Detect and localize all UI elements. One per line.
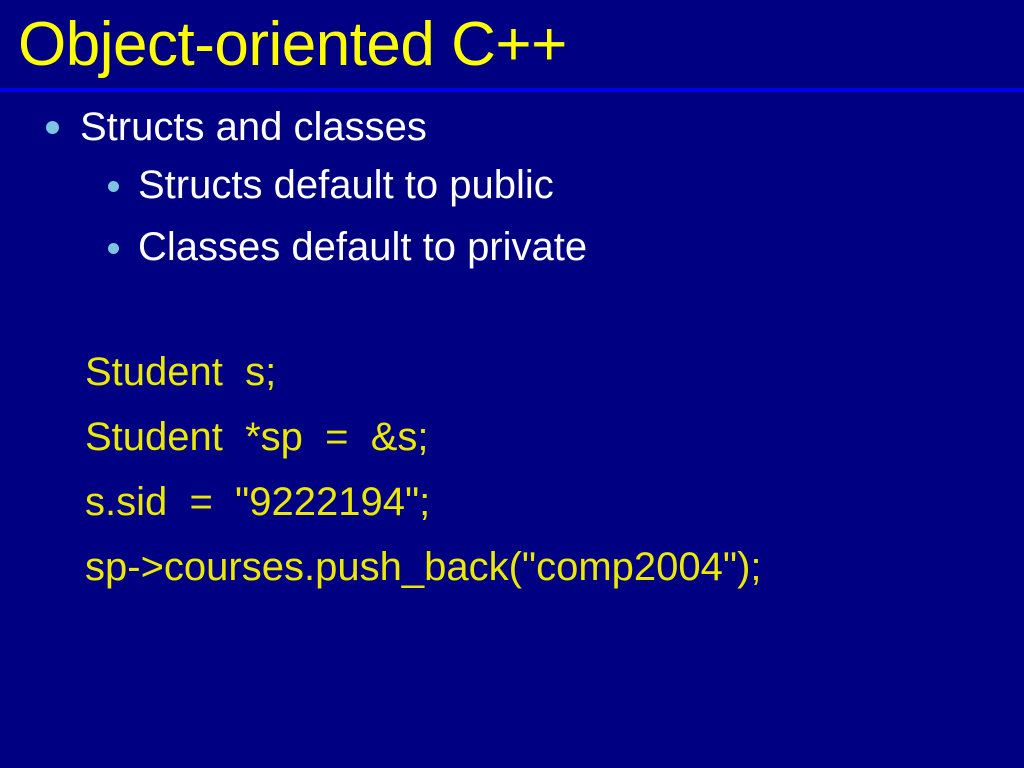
code-line: sp->courses.push_back("comp2004");	[85, 535, 1024, 600]
list-item: Classes default to private	[0, 216, 1024, 278]
bullet-dot-icon	[46, 121, 59, 134]
bullet-dot-icon	[108, 181, 119, 192]
code-block: Student s; Student *sp = &s; s.sid = "92…	[0, 340, 1024, 600]
code-line: s.sid = "9222194";	[85, 470, 1024, 535]
list-item-label: Structs default to public	[138, 163, 554, 207]
list-item: Structs and classes	[0, 100, 1024, 154]
spacer	[0, 278, 1024, 340]
page-title: Object-oriented C++	[18, 6, 1008, 84]
list-item-label: Structs and classes	[80, 105, 427, 149]
slide: Object-oriented C++ Structs and classes …	[0, 0, 1024, 768]
title-divider	[0, 88, 1024, 92]
bullet-dot-icon	[108, 243, 119, 254]
code-line: Student s;	[85, 340, 1024, 405]
slide-body: Structs and classes Structs default to p…	[0, 100, 1024, 760]
code-line: Student *sp = &s;	[85, 405, 1024, 470]
list-item: Structs default to public	[0, 154, 1024, 216]
list-item-label: Classes default to private	[138, 225, 587, 269]
